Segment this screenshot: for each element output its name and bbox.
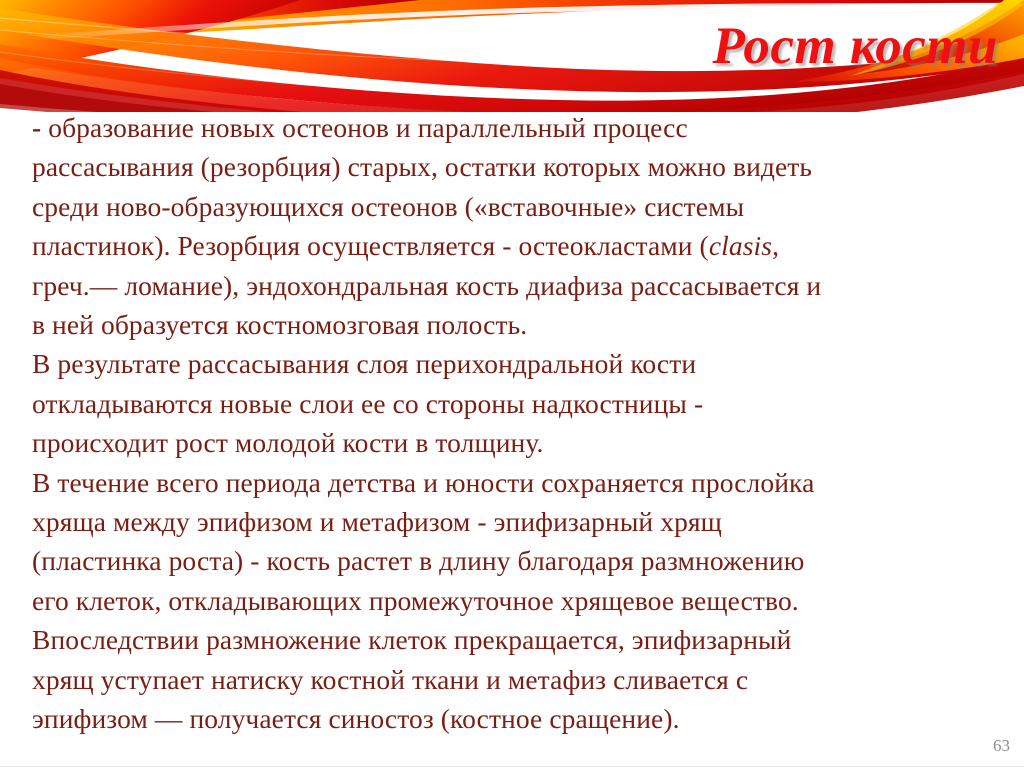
text-line: (пластинка роста) - кость растет в длину… — [32, 541, 1004, 580]
text-line: среди ново-образующихся остеонов («встав… — [32, 187, 1004, 226]
text-line-content: В течение всего периода детства и юности… — [32, 467, 814, 498]
text-line-content: хрящ уступает натиску костной ткани и ме… — [32, 664, 748, 695]
text-line: откладываются новые слои ее со стороны н… — [32, 384, 1004, 423]
text-line-content: пластинок). Резорбция осуществляется - о… — [32, 230, 709, 261]
page-number: 63 — [993, 736, 1010, 756]
text-line-content: в ней образуется костномозговая полость. — [32, 309, 527, 340]
text-line: В течение всего периода детства и юности… — [32, 463, 1004, 502]
text-line-content: его клеток, откладывающих промежуточное … — [32, 585, 799, 616]
text-line-content: среди ново-образующихся остеонов («встав… — [32, 191, 744, 222]
text-line-content: эпифизом — получается синостоз (костное … — [32, 703, 680, 734]
text-line: - образование новых остеонов и параллель… — [32, 108, 1004, 147]
text-line-content: В результате рассасывания слоя перихондр… — [32, 348, 696, 379]
text-line: Впоследствии размножение клеток прекраща… — [32, 620, 1004, 659]
page-title: Рост кости — [712, 17, 998, 75]
text-line: пластинок). Резорбция осуществляется - о… — [32, 226, 1004, 265]
latin-term: clasis — [709, 230, 772, 261]
text-line-content: Впоследствии размножение клеток прекраща… — [32, 624, 791, 655]
presentation-slide: Рост кости - образование новых остеонов … — [0, 0, 1024, 767]
text-line: в ней образуется костномозговая полость. — [32, 305, 1004, 344]
bullet-dash: - — [32, 112, 41, 143]
text-line: его клеток, откладывающих промежуточное … — [32, 581, 1004, 620]
text-line-content: греч.— ломание), эндохондральная кость д… — [32, 270, 821, 301]
text-line: В результате рассасывания слоя перихондр… — [32, 344, 1004, 383]
text-line-tail: , — [772, 230, 779, 261]
text-line-content: (пластинка роста) - кость растет в длину… — [32, 545, 804, 576]
text-line: происходит рост молодой кости в толщину. — [32, 423, 1004, 462]
text-line: эпифизом — получается синостоз (костное … — [32, 699, 1004, 738]
text-line: греч.— ломание), эндохондральная кость д… — [32, 266, 1004, 305]
text-line-content: образование новых остеонов и параллельны… — [41, 112, 688, 143]
text-line: хрящ уступает натиску костной ткани и ме… — [32, 660, 1004, 699]
text-line-content: рассасывания (резорбция) старых, остатки… — [32, 151, 812, 182]
text-line-content: происходит рост молодой кости в толщину. — [32, 427, 543, 458]
text-line-content: откладываются новые слои ее со стороны н… — [32, 388, 703, 419]
slide-body-text: - образование новых остеонов и параллель… — [32, 108, 1004, 739]
text-line: рассасывания (резорбция) старых, остатки… — [32, 147, 1004, 186]
text-line: хряща между эпифизом и метафизом - эпифи… — [32, 502, 1004, 541]
text-line-content: хряща между эпифизом и метафизом - эпифи… — [32, 506, 722, 537]
